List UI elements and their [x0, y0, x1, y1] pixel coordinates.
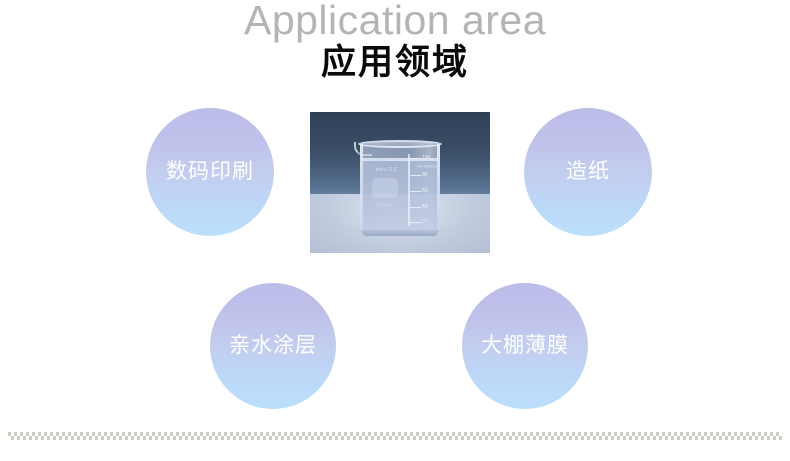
beaker-tick-40: [410, 207, 421, 208]
beaker-tick-60: [410, 191, 421, 192]
beaker-illustration: 100 APPROX 80 60 40 20 boro 3.3 100 ml: [356, 134, 444, 234]
bubble-papermaking[interactable]: 造纸: [524, 108, 652, 236]
beaker-photo: 100 APPROX 80 60 40 20 boro 3.3 100 ml: [310, 112, 490, 253]
bubble-greenhouse-film[interactable]: 大棚薄膜: [462, 283, 588, 409]
beaker-tick-label-100: 100: [422, 155, 430, 161]
beaker-graduation-line: [408, 154, 410, 226]
beaker-left-wall-highlight: [360, 144, 363, 234]
beaker-tick-80: [410, 175, 421, 176]
beaker-tick-20: [410, 222, 421, 223]
beaker-tick-label-40: 40: [422, 204, 428, 210]
checker-row-bottom: [8, 436, 782, 440]
beaker-tick-label-20: 20: [422, 219, 428, 225]
beaker-tick-100: [410, 158, 421, 159]
beaker-capacity-mark: 100 ml: [376, 204, 393, 209]
beaker-right-wall-highlight: [437, 144, 440, 234]
bubble-hydrophilic-coating[interactable]: 亲水涂层: [210, 283, 336, 409]
bubble-label: 造纸: [566, 160, 610, 184]
beaker-etched-label-panel: [372, 178, 398, 198]
beaker-tick-label-60: 60: [422, 188, 428, 194]
footer-checker-decoration: [8, 432, 782, 441]
slide-canvas: Application area 应用领域 数码印刷 造纸 亲水涂层 大棚薄膜: [0, 0, 790, 461]
bubble-label: 亲水涂层: [229, 334, 317, 358]
bubble-digital-printing[interactable]: 数码印刷: [146, 108, 274, 236]
bubble-label: 数码印刷: [166, 160, 254, 184]
beaker-tick-label-80: 80: [422, 172, 428, 178]
beaker-approx-mark: APPROX: [417, 164, 438, 169]
page-title-english: Application area: [0, 0, 790, 42]
beaker-pouring-spout: [354, 142, 372, 156]
beaker-base: [361, 230, 439, 236]
bubble-label: 大棚薄膜: [481, 334, 569, 358]
page-title-chinese: 应用领域: [0, 42, 790, 84]
beaker-brand-mark: boro 3.3: [376, 168, 397, 173]
